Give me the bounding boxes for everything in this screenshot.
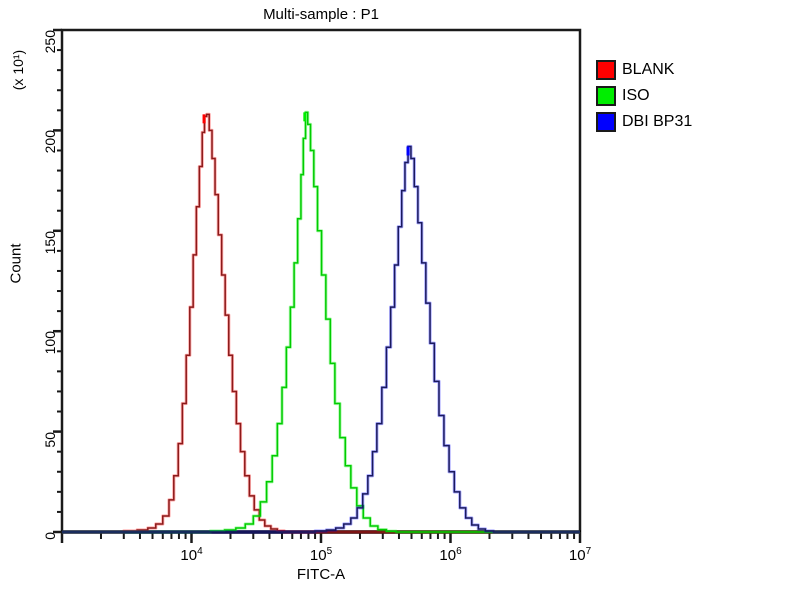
y-tick-label: 0	[42, 532, 58, 572]
x-tick-label: 106	[439, 546, 461, 564]
legend-label: DBI BP31	[622, 114, 692, 130]
x-tick-label: 107	[569, 546, 591, 564]
series-line-iso	[62, 112, 580, 532]
legend-item-iso[interactable]: ISO	[596, 84, 692, 108]
series-glow-dbi-bp31	[62, 146, 580, 532]
y-tick-label: 250	[42, 30, 58, 70]
y-tick-label: 50	[42, 432, 58, 472]
series-glow-blank	[62, 114, 580, 532]
legend: BLANKISODBI BP31	[596, 58, 692, 134]
legend-item-blank[interactable]: BLANK	[596, 58, 692, 82]
legend-color-swatch	[596, 86, 616, 106]
legend-color-swatch	[596, 60, 616, 80]
legend-label: BLANK	[622, 62, 674, 78]
y-axis-multiplier: (x 10¹)	[10, 40, 26, 100]
legend-item-dbi-bp31[interactable]: DBI BP31	[596, 110, 692, 134]
flow-cytometry-histogram: Multi-sample : P1 Count (x 10¹) FITC-A 0…	[0, 0, 800, 600]
x-axis-label: FITC-A	[62, 566, 580, 583]
y-tick-label: 100	[42, 331, 58, 371]
series-glow-iso	[62, 112, 580, 532]
series-line-dbi-bp31	[62, 146, 580, 532]
x-tick-label: 105	[310, 546, 332, 564]
y-axis-label: Count	[8, 224, 25, 304]
y-tick-label: 200	[42, 130, 58, 170]
x-tick-label: 104	[180, 546, 202, 564]
legend-color-swatch	[596, 112, 616, 132]
series-line-blank	[62, 114, 580, 532]
y-tick-label: 150	[42, 231, 58, 271]
legend-label: ISO	[622, 88, 650, 104]
